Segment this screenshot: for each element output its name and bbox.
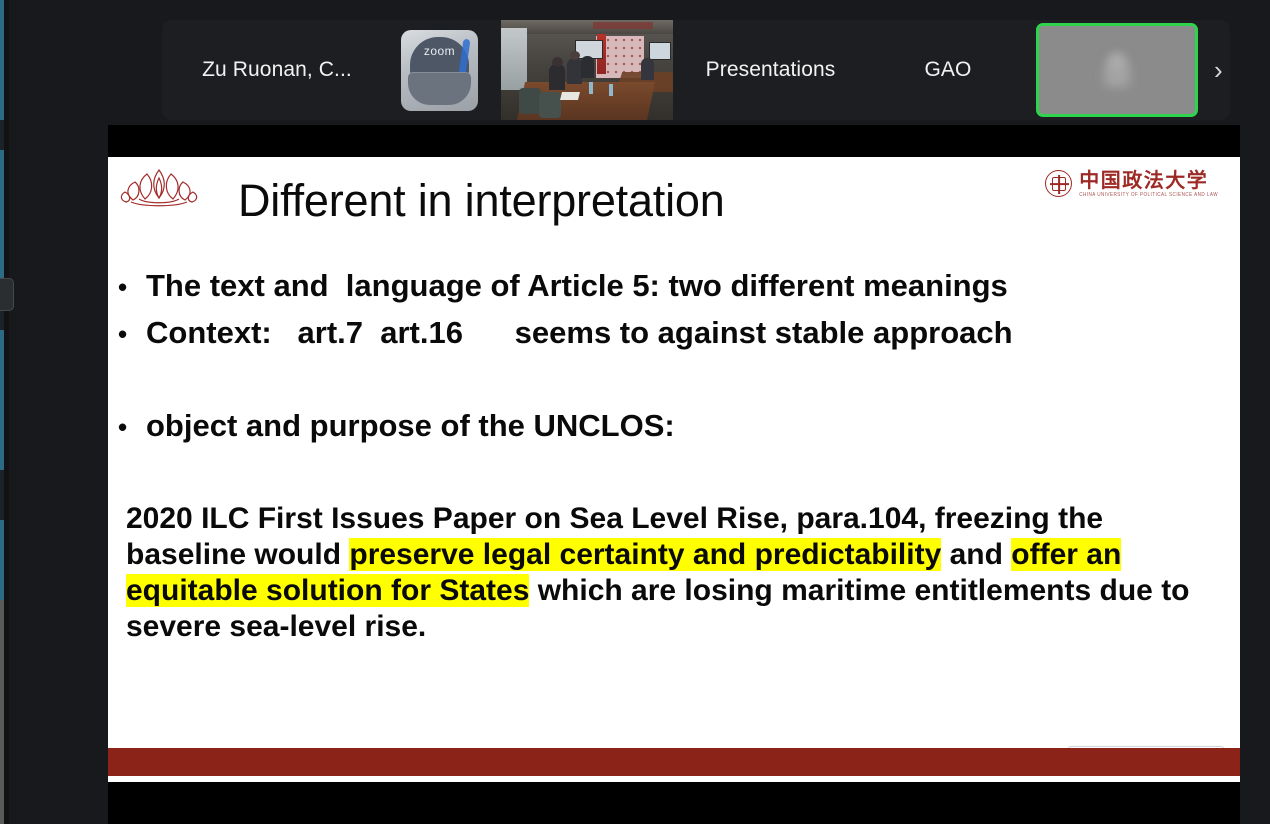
zoom-cap-photo-icon: zoom [401,30,478,111]
bullet-text: object and purpose of the UNCLOS: [146,402,675,449]
spacer [118,449,1230,501]
side-panel-tab[interactable] [0,278,14,311]
participant-filmstrip: Zu Ruonan, C... zoom [162,20,1230,120]
bullet-text: Context: art.7 art.16 seems to against s… [146,309,1013,356]
university-name-cn: 中国政法大学 [1079,170,1218,190]
bullet-marker: • [118,315,146,355]
participant-name: Presentations [706,58,836,82]
background-window-sliver-dark [4,0,9,824]
paragraph-highlight-1: preserve legal certainty and predictabil… [349,538,941,571]
conference-room-photo-icon [501,20,673,120]
participant-name: Zu Ruonan, C... [188,58,352,82]
bullet-item: • object and purpose of the UNCLOS: [118,402,1230,449]
participant-thumbnail[interactable]: Zu Ruonan, C... [162,20,378,120]
active-speaker-video [1036,23,1198,117]
participant-thumbnail[interactable]: zoom [378,20,501,120]
participant-thumbnail[interactable]: GAO [868,20,1028,120]
bullet-marker: • [118,408,146,448]
bullet-marker: • [118,268,146,308]
paragraph-part-2: and [941,538,1011,571]
slide-footer-bar [108,748,1240,776]
slide-body: • The text and language of Article 5: tw… [118,262,1230,645]
university-seal-icon [1045,170,1072,197]
lotus-ornament-icon [117,166,201,210]
slide-title: Different in interpretation [238,175,725,227]
shared-screen-area: 中国政法大学 CHINA UNIVERSITY OF POLITICAL SCI… [108,125,1240,824]
blurred-head-icon [1109,53,1125,69]
spacer [118,356,1230,402]
participant-name: GAO [925,58,972,82]
bullet-item: • The text and language of Article 5: tw… [118,262,1230,309]
presentation-slide: 中国政法大学 CHINA UNIVERSITY OF POLITICAL SCI… [108,157,1240,782]
participant-thumbnail[interactable]: Presentations [673,20,868,120]
participant-thumbnail-active[interactable] [1028,20,1206,120]
zoom-meeting-window: Zu Ruonan, C... zoom [0,0,1270,824]
cap-zoom-label: zoom [401,44,478,58]
slide-paragraph: 2020 ILC First Issues Paper on Sea Level… [126,501,1221,645]
chevron-right-icon[interactable]: › [1206,20,1230,120]
bullet-item: • Context: art.7 art.16 seems to against… [118,309,1230,356]
university-logo: 中国政法大学 CHINA UNIVERSITY OF POLITICAL SCI… [1045,170,1218,198]
participant-thumbnail[interactable] [501,20,673,120]
university-name-en: CHINA UNIVERSITY OF POLITICAL SCIENCE AN… [1079,193,1218,198]
bullet-text: The text and language of Article 5: two … [146,262,1008,309]
